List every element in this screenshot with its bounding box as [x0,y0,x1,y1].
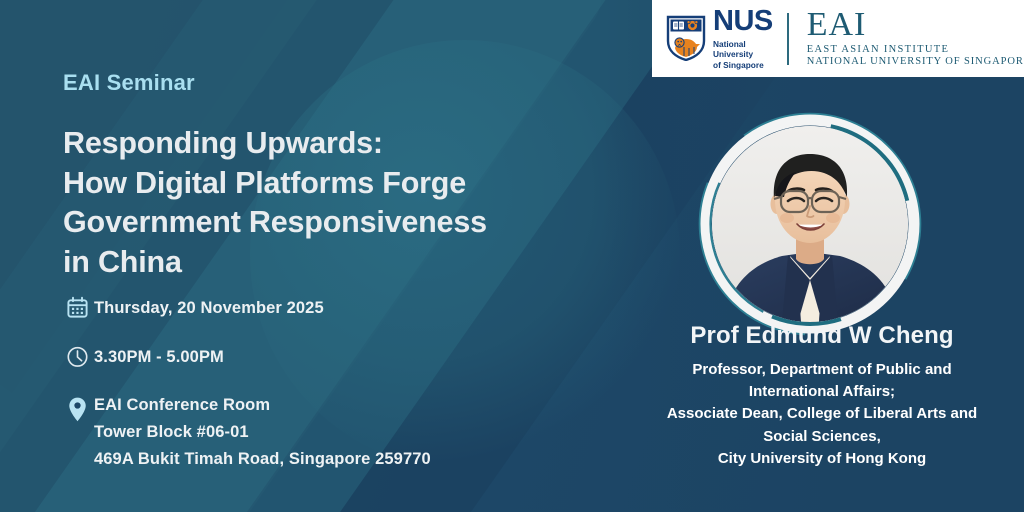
detail-row-location: EAI Conference Room Tower Block #06-01 4… [60,392,620,472]
clock-icon [60,344,94,368]
speaker-affiliation: Professor, Department of Public and Inte… [620,359,1024,470]
title-line-3: Government Responsiveness [63,205,487,239]
nus-subtitle-line1: National University [713,39,753,59]
nus-shield-lion-crest-icon [666,15,706,61]
calendar-icon [60,295,94,319]
nus-logo: NUS National University of Singapore [666,7,773,69]
nus-subtitle: National University of Singapore [713,39,773,69]
detail-row-time: 3.30PM - 5.00PM [60,344,620,371]
location-line-2: Tower Block #06-01 [94,423,249,441]
title-line-4: in China [63,245,182,279]
nus-wordmark: NUS National University of Singapore [713,7,773,69]
event-heading-block: EAI Seminar Responding Upwards: How Digi… [63,70,623,283]
detail-text-date: Thursday, 20 November 2025 [94,295,324,322]
speaker-portrait [694,108,926,340]
speaker-name: Prof Edmund W Cheng [620,322,1024,350]
nus-subtitle-line2: of Singapore [713,60,764,70]
institution-logo-bar: NUS National University of Singapore EAI… [652,0,1024,77]
affiliation-line-5: City University of Hong Kong [718,450,926,467]
speaker-portrait-photo [712,126,908,322]
event-details-list: Thursday, 20 November 2025 3.30PM - 5.00… [60,295,620,473]
detail-text-time: 3.30PM - 5.00PM [94,344,224,371]
affiliation-line-2: International Affairs; [749,383,895,400]
eai-logo: EAI EAST ASIAN INSTITUTE NATIONAL UNIVER… [807,9,1024,67]
title-line-1: Responding Upwards: [63,126,383,160]
speaker-info: Prof Edmund W Cheng Professor, Departmen… [620,322,1024,470]
location-line-3: 469A Bukit Timah Road, Singapore 259770 [94,450,431,468]
eai-wordmark-text: EAI [807,9,1024,41]
affiliation-line-4: Social Sciences, [763,428,881,445]
detail-row-date: Thursday, 20 November 2025 [60,295,620,322]
location-line-1: EAI Conference Room [94,396,270,414]
location-pin-icon [60,392,94,423]
logo-divider [787,13,789,65]
affiliation-line-3: Associate Dean, College of Liberal Arts … [667,405,977,422]
eai-subtitle-line2: NATIONAL UNIVERSITY OF SINGAPORE [807,57,1024,68]
detail-text-location: EAI Conference Room Tower Block #06-01 4… [94,392,431,472]
title-line-2: How Digital Platforms Forge [63,166,466,200]
page-title: Responding Upwards: How Digital Platform… [63,124,623,283]
event-kicker: EAI Seminar [63,70,623,96]
eai-subtitle-line1: EAST ASIAN INSTITUTE [807,45,1024,56]
seminar-poster: NUS National University of Singapore EAI… [0,0,1024,512]
affiliation-line-1: Professor, Department of Public and [692,361,951,378]
nus-wordmark-text: NUS [713,7,773,36]
